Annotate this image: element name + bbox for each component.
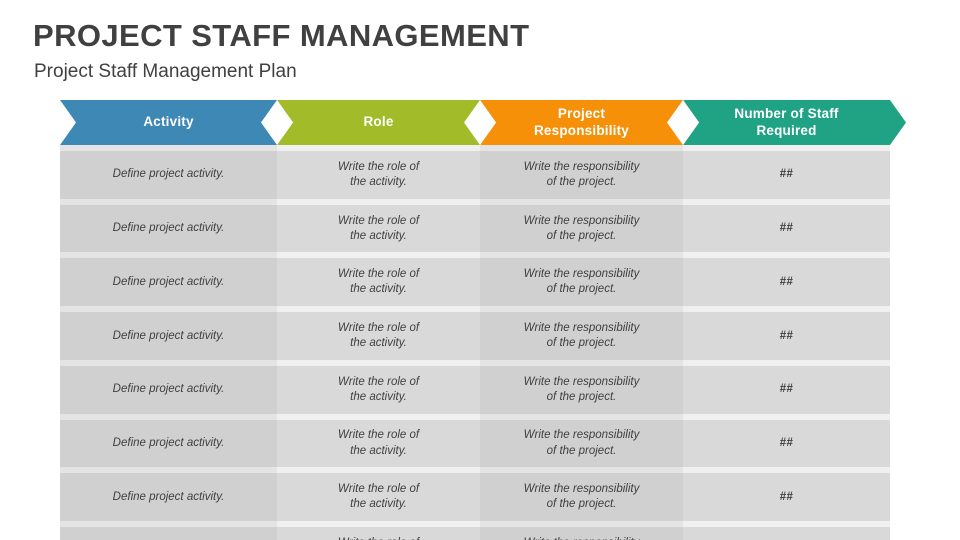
- row-gap-band: [60, 414, 277, 420]
- column-header-label: Activity: [143, 114, 193, 130]
- table-row[interactable]: Define project activity.Write the role o…: [60, 151, 890, 199]
- row-gap-band: [60, 252, 277, 258]
- row-gap-band: [480, 414, 683, 420]
- table-cell-text: ##: [780, 382, 794, 397]
- table-cell-text: Write the responsibilityof the project.: [524, 536, 640, 540]
- row-gap-band: [480, 521, 683, 527]
- table-cell-text: Write the role ofthe activity.: [338, 214, 419, 244]
- row-gap-band: [480, 360, 683, 366]
- chevron-head-point: [890, 100, 906, 145]
- row-gap-band: [683, 360, 890, 366]
- table-cell-responsibility[interactable]: Write the responsibilityof the project.: [480, 527, 683, 540]
- row-gap-band: [480, 145, 683, 151]
- table-cell-text: Write the responsibilityof the project.: [524, 160, 640, 190]
- slide-subtitle: Project Staff Management Plan: [34, 61, 297, 83]
- table-cell-role[interactable]: Write the role ofthe activity.: [277, 366, 480, 414]
- table-cell-text: Write the role ofthe activity.: [338, 536, 419, 540]
- table-row[interactable]: Define project activity.Write the role o…: [60, 258, 890, 306]
- table-cell-activity[interactable]: Define project activity.: [60, 258, 277, 306]
- table-cell-staff[interactable]: ##: [683, 420, 890, 468]
- table-cell-text: Define project activity.: [113, 275, 225, 290]
- row-gap-band: [683, 467, 890, 473]
- row-gap-band: [277, 199, 480, 205]
- table-cell-role[interactable]: Write the role ofthe activity.: [277, 420, 480, 468]
- table-cell-text: Write the responsibilityof the project.: [524, 482, 640, 512]
- table-cell-role[interactable]: Write the role ofthe activity.: [277, 258, 480, 306]
- table-cell-text: ##: [780, 221, 794, 236]
- table-cell-staff[interactable]: ##: [683, 312, 890, 360]
- table-cell-staff[interactable]: ##: [683, 527, 890, 540]
- row-gap-band: [480, 306, 683, 312]
- row-gap-band: [683, 306, 890, 312]
- column-header-activity[interactable]: Activity: [60, 100, 277, 145]
- table-cell-text: Write the responsibilityof the project.: [524, 375, 640, 405]
- table-cell-staff[interactable]: ##: [683, 151, 890, 199]
- table-cell-role[interactable]: Write the role ofthe activity.: [277, 527, 480, 540]
- table-cell-responsibility[interactable]: Write the responsibilityof the project.: [480, 473, 683, 521]
- row-gap-band: [277, 252, 480, 258]
- table-cell-text: Write the role ofthe activity.: [338, 160, 419, 190]
- row-gap-band: [277, 414, 480, 420]
- row-gap-band: [683, 414, 890, 420]
- table-row[interactable]: Define project activity.Write the role o…: [60, 312, 890, 360]
- row-gap-band: [480, 467, 683, 473]
- table-cell-responsibility[interactable]: Write the responsibilityof the project.: [480, 151, 683, 199]
- table-cell-text: Write the responsibilityof the project.: [524, 267, 640, 297]
- table-cell-text: Define project activity.: [113, 167, 225, 182]
- table-cell-activity[interactable]: Define project activity.: [60, 151, 277, 199]
- table-cell-text: ##: [780, 329, 794, 344]
- row-gap-band: [277, 145, 480, 151]
- table-cell-text: Write the role ofthe activity.: [338, 267, 419, 297]
- row-gap-band: [60, 199, 277, 205]
- table-row[interactable]: Define project activity.Write the role o…: [60, 527, 890, 540]
- row-gap-band: [277, 360, 480, 366]
- row-gap-band: [60, 467, 277, 473]
- row-gap-band: [60, 521, 277, 527]
- table-cell-staff[interactable]: ##: [683, 366, 890, 414]
- slide-title: PROJECT STAFF MANAGEMENT: [33, 18, 529, 54]
- table-cell-staff[interactable]: ##: [683, 473, 890, 521]
- row-gap-band: [277, 467, 480, 473]
- table-cell-text: Define project activity.: [113, 329, 225, 344]
- table-cell-text: ##: [780, 436, 794, 451]
- column-header-responsibility[interactable]: ProjectResponsibility: [480, 100, 683, 145]
- row-gap-band: [277, 521, 480, 527]
- table-header-row: ActivityRoleProjectResponsibilityNumber …: [60, 100, 890, 145]
- chevron-tail-notch: [60, 100, 76, 145]
- table-cell-text: Write the responsibilityof the project.: [524, 321, 640, 351]
- row-gap-band: [683, 252, 890, 258]
- table-cell-text: Write the role ofthe activity.: [338, 321, 419, 351]
- table-cell-text: ##: [780, 490, 794, 505]
- row-gap-band: [683, 145, 890, 151]
- table-cell-responsibility[interactable]: Write the responsibilityof the project.: [480, 258, 683, 306]
- table-body: Define project activity.Write the role o…: [60, 145, 890, 540]
- table-cell-text: ##: [780, 275, 794, 290]
- table-cell-text: Write the responsibilityof the project.: [524, 428, 640, 458]
- column-header-role[interactable]: Role: [277, 100, 480, 145]
- row-gap-band: [480, 252, 683, 258]
- table-cell-role[interactable]: Write the role ofthe activity.: [277, 312, 480, 360]
- row-gap-band: [60, 306, 277, 312]
- row-gap-band: [683, 521, 890, 527]
- row-gap-band: [277, 306, 480, 312]
- row-gap-band: [683, 199, 890, 205]
- column-header-label: Role: [363, 114, 393, 130]
- table-cell-activity[interactable]: Define project activity.: [60, 366, 277, 414]
- table-cell-text: Define project activity.: [113, 436, 225, 451]
- table-cell-text: Write the role ofthe activity.: [338, 428, 419, 458]
- table-cell-staff[interactable]: ##: [683, 205, 890, 253]
- table-cell-text: ##: [780, 167, 794, 182]
- table-cell-activity[interactable]: Define project activity.: [60, 527, 277, 540]
- table-cell-activity[interactable]: Define project activity.: [60, 420, 277, 468]
- table-cell-activity[interactable]: Define project activity.: [60, 205, 277, 253]
- table-row[interactable]: Define project activity.Write the role o…: [60, 473, 890, 521]
- table-cell-text: Define project activity.: [113, 490, 225, 505]
- column-header-label: Number of StaffRequired: [734, 106, 838, 139]
- table-cell-text: Write the role ofthe activity.: [338, 375, 419, 405]
- staff-management-table: ActivityRoleProjectResponsibilityNumber …: [60, 100, 890, 540]
- table-cell-role[interactable]: Write the role ofthe activity.: [277, 473, 480, 521]
- table-cell-responsibility[interactable]: Write the responsibilityof the project.: [480, 205, 683, 253]
- table-cell-staff[interactable]: ##: [683, 258, 890, 306]
- table-row[interactable]: Define project activity.Write the role o…: [60, 205, 890, 253]
- row-gap-band: [60, 145, 277, 151]
- table-cell-role[interactable]: Write the role ofthe activity.: [277, 151, 480, 199]
- table-cell-responsibility[interactable]: Write the responsibilityof the project.: [480, 366, 683, 414]
- table-cell-text: Write the role ofthe activity.: [338, 482, 419, 512]
- table-cell-text: Define project activity.: [113, 382, 225, 397]
- column-header-label: ProjectResponsibility: [534, 106, 629, 139]
- column-header-staff[interactable]: Number of StaffRequired: [683, 100, 890, 145]
- table-cell-responsibility[interactable]: Write the responsibilityof the project.: [480, 420, 683, 468]
- row-gap-band: [60, 360, 277, 366]
- table-cell-role[interactable]: Write the role ofthe activity.: [277, 205, 480, 253]
- row-gap-band: [480, 199, 683, 205]
- table-row[interactable]: Define project activity.Write the role o…: [60, 420, 890, 468]
- table-cell-activity[interactable]: Define project activity.: [60, 312, 277, 360]
- table-cell-text: Write the responsibilityof the project.: [524, 214, 640, 244]
- table-row[interactable]: Define project activity.Write the role o…: [60, 366, 890, 414]
- table-cell-text: Define project activity.: [113, 221, 225, 236]
- table-cell-responsibility[interactable]: Write the responsibilityof the project.: [480, 312, 683, 360]
- table-cell-activity[interactable]: Define project activity.: [60, 473, 277, 521]
